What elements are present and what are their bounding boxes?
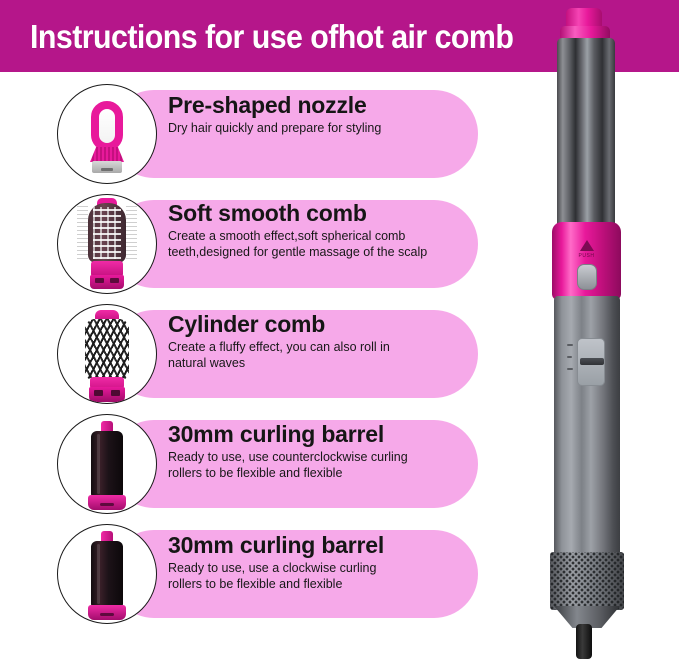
device-attachment-collar: PUSH [552,222,621,300]
feature-list: Pre-shaped nozzle Dry hair quickly and p… [0,78,500,630]
product-instruction-infographic: Instructions for use ofhot air comb Pre-… [0,0,679,659]
feature-text: Pre-shaped nozzle Dry hair quickly and p… [168,92,468,137]
release-label: PUSH [552,253,621,259]
release-triangle-icon [580,240,594,251]
feature-title: Cylinder comb [168,311,468,338]
attachment-release-button[interactable] [577,264,597,290]
pre-shaped-nozzle-icon [57,84,157,184]
list-item: Cylinder comb Create a fluffy effect, yo… [0,298,500,408]
feature-text: 30mm curling barrel Ready to use, use co… [168,421,468,481]
list-item: 30mm curling barrel Ready to use, use a … [0,518,500,630]
device-power-cord [576,624,592,659]
list-item: 30mm curling barrel Ready to use, use co… [0,408,500,518]
curling-barrel-counterclockwise-icon [57,414,157,514]
list-item: Pre-shaped nozzle Dry hair quickly and p… [0,78,500,188]
feature-description: Create a fluffy effect, you can also rol… [168,340,468,371]
cylinder-comb-icon [57,304,157,404]
feature-description: Create a smooth effect,soft spherical co… [168,229,468,260]
device-filter-mesh [550,552,624,610]
feature-text: Cylinder comb Create a fluffy effect, yo… [168,311,468,371]
feature-title: Pre-shaped nozzle [168,92,468,119]
soft-smooth-comb-icon [57,194,157,294]
feature-title: 30mm curling barrel [168,532,468,559]
list-item: Soft smooth comb Create a smooth effect,… [0,188,500,298]
device-barrel [557,38,615,228]
power-slider-switch[interactable] [577,338,605,386]
feature-title: Soft smooth comb [168,200,468,227]
feature-description: Dry hair quickly and prepare for styling [168,121,468,137]
page-title: Instructions for use ofhot air comb [30,17,513,57]
feature-text: Soft smooth comb Create a smooth effect,… [168,200,468,260]
feature-description: Ready to use, use counterclockwise curli… [168,450,468,481]
feature-title: 30mm curling barrel [168,421,468,448]
curling-barrel-clockwise-icon [57,524,157,624]
device-handle [554,296,620,558]
feature-text: 30mm curling barrel Ready to use, use a … [168,532,468,592]
power-level-ticks [567,344,575,370]
feature-description: Ready to use, use a clockwise curling ro… [168,561,468,592]
hot-air-comb-main-unit: PUSH [498,0,679,659]
